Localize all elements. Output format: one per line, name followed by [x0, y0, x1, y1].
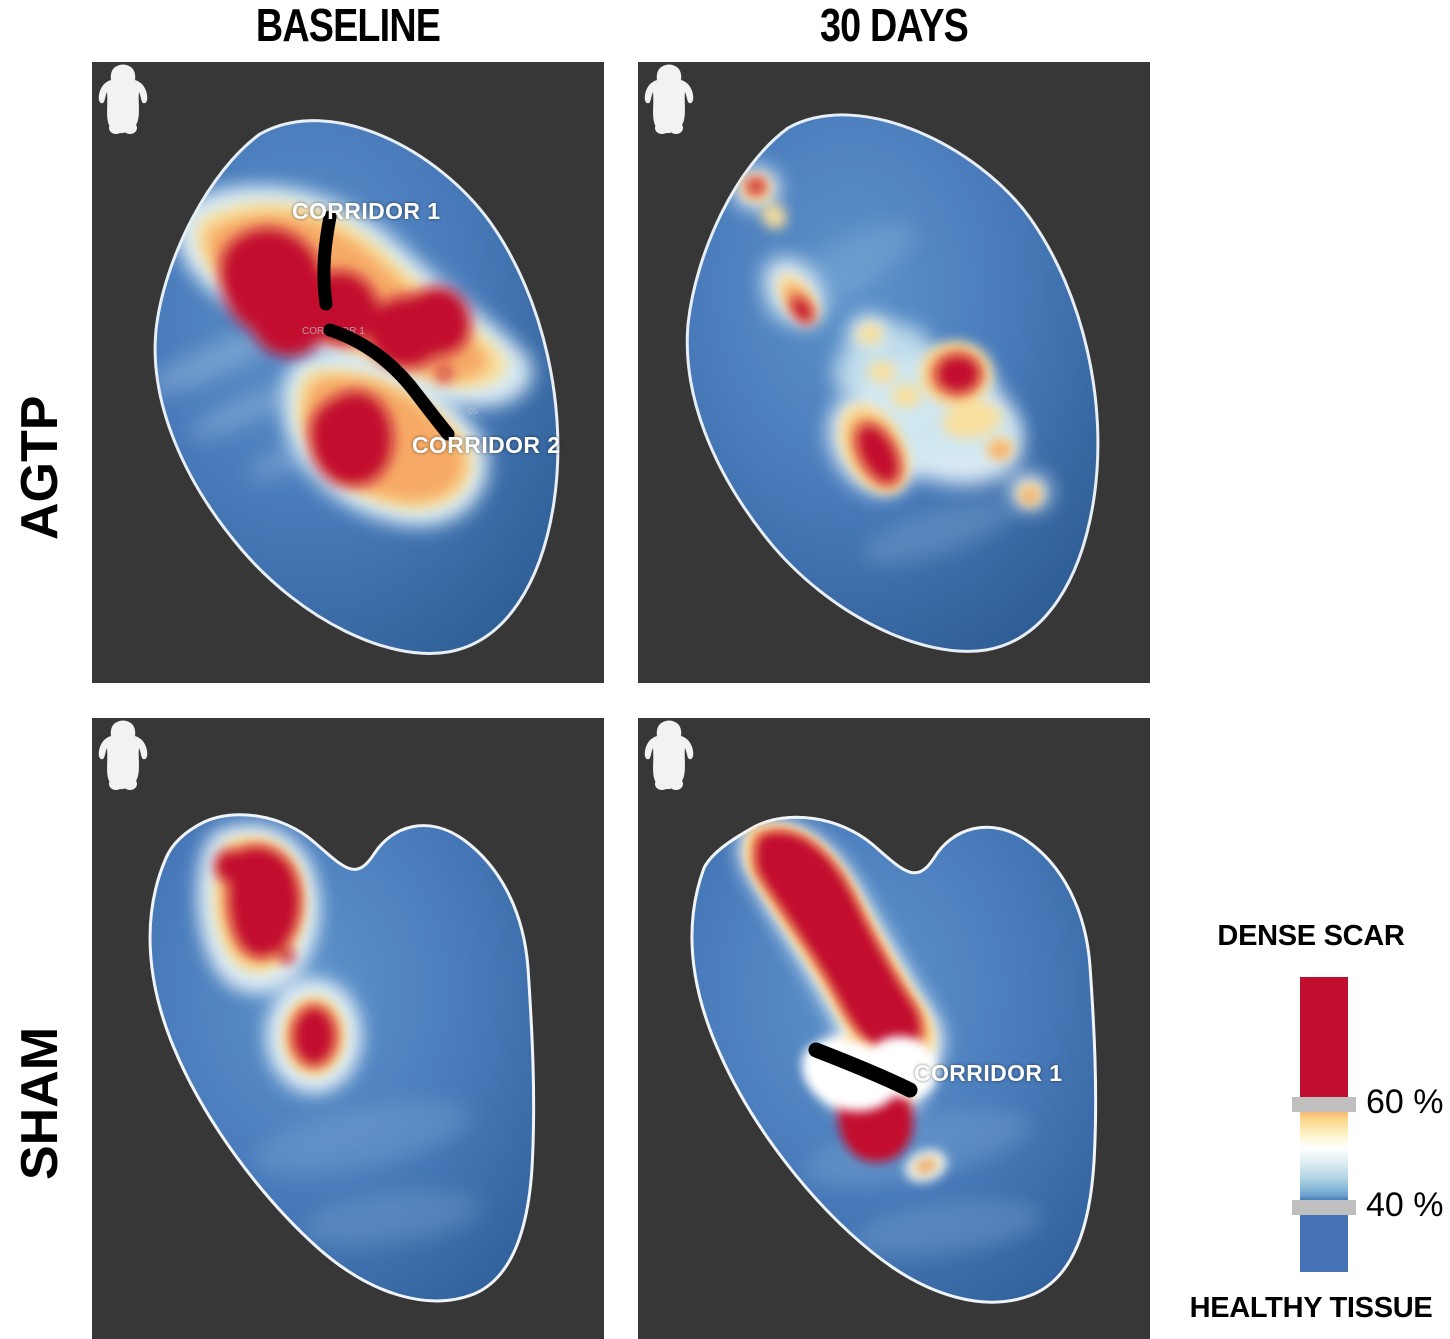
scar-map-panel-agtp-baseline[interactable]: CORRIDOR 1 05 CORRIDOR 1 CORRIDOR 2 — [92, 62, 604, 683]
torso-orientation-icon — [92, 718, 154, 794]
corridor-label-2: CORRIDOR 2 — [412, 432, 560, 459]
row-label-sham: SHAM — [10, 1027, 70, 1180]
column-header-baseline: BASELINE — [138, 0, 558, 52]
torso-orientation-icon — [638, 62, 700, 138]
svg-text:05: 05 — [468, 406, 478, 416]
scar-density-legend: DENSE SCAR 60 % 40 % HEALTHY TISSUE — [1180, 920, 1442, 1320]
colorbar-tick-60 — [1292, 1097, 1356, 1112]
scar-map-panel-agtp-30-days[interactable] — [638, 62, 1150, 683]
lv-scar-map-sham-30-days — [638, 718, 1150, 1339]
colorbar-gradient — [1300, 977, 1348, 1272]
colorbar-tick-40 — [1292, 1200, 1356, 1215]
scar-map-panel-sham-30-days[interactable]: CORRIDOR 1 — [638, 718, 1150, 1339]
torso-orientation-icon — [92, 62, 154, 138]
torso-orientation-icon — [638, 718, 700, 794]
corridor-label-1: CORRIDOR 1 — [292, 198, 440, 225]
row-label-agtp: AGTP — [10, 396, 70, 540]
corridor-label-1: CORRIDOR 1 — [914, 1060, 1062, 1087]
lv-scar-map-agtp-baseline: CORRIDOR 1 05 — [92, 62, 604, 683]
column-header-30-days: 30 DAYS — [684, 0, 1104, 52]
legend-label-dense-scar: DENSE SCAR — [1180, 920, 1442, 953]
lv-scar-map-sham-baseline — [92, 718, 604, 1339]
legend-label-healthy-tissue: HEALTHY TISSUE — [1180, 1292, 1442, 1325]
colorbar-tick-label-60: 60 % — [1366, 1083, 1444, 1122]
colorbar-tick-label-40: 40 % — [1366, 1186, 1444, 1225]
corridor-1-marker-line — [324, 217, 330, 304]
scar-map-panel-sham-baseline[interactable] — [92, 718, 604, 1339]
lv-scar-map-agtp-30-days — [638, 62, 1150, 683]
